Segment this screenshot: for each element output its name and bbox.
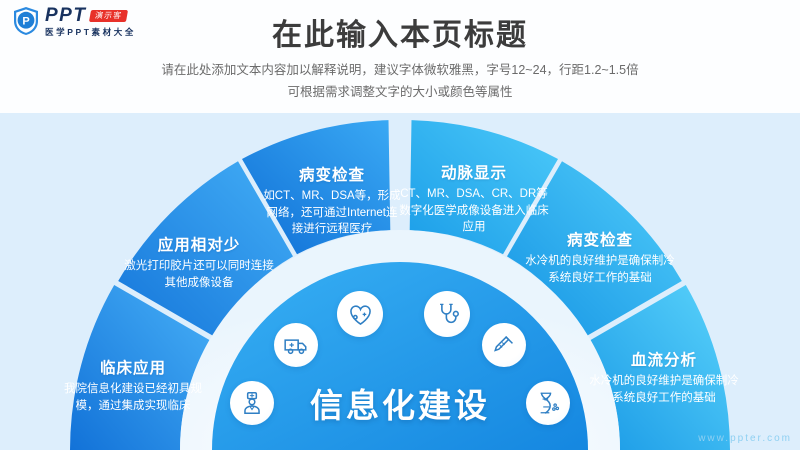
segment-3-body: 如CT、MR、DSA等，形成网络，还可通过Internet连接进行远程医疗 (262, 188, 402, 238)
page-title: 在此输入本页标题 (0, 10, 800, 54)
doctor-icon-bubble[interactable] (230, 381, 274, 425)
subtitle-line-2: 可根据需求调整文字的大小或颜色等属性 (0, 82, 800, 104)
segment-2-title: 应用相对少 (124, 233, 274, 255)
stethoscope-icon (434, 301, 461, 328)
segment-2-body: 激光打印胶片还可以同时连接其他成像设备 (124, 258, 274, 291)
segment-4-title: 动脉显示 (398, 161, 550, 183)
stethoscope-icon-bubble[interactable] (424, 291, 470, 337)
heart-pulse-icon (347, 301, 374, 328)
segment-5-body: 水冷机的良好维护是确保制冷系统良好工作的基础 (524, 253, 676, 286)
heart-pulse-icon-bubble[interactable] (337, 291, 383, 337)
dna-icon-bubble[interactable] (526, 381, 570, 425)
segment-5-text: 病变检查 水冷机的良好维护是确保制冷系统良好工作的基础 (524, 228, 676, 286)
dna-icon (535, 390, 561, 416)
watermark: www.ppter.com (698, 433, 792, 444)
syringe-icon-bubble[interactable] (482, 323, 526, 367)
segment-5-title: 病变检查 (524, 228, 676, 250)
subtitle-line-1: 请在此处添加文本内容加以解释说明，建议字体微软雅黑，字号12~24，行距1.2~… (0, 60, 800, 82)
segment-6-title: 血流分析 (588, 348, 740, 370)
hub-label: 信息化建设 (0, 379, 800, 427)
segment-2-text: 应用相对少 激光打印胶片还可以同时连接其他成像设备 (124, 233, 274, 291)
syringe-icon (491, 332, 517, 358)
ambulance-icon-bubble[interactable] (274, 323, 318, 367)
page-subtitle: 请在此处添加文本内容加以解释说明，建议字体微软雅黑，字号12~24，行距1.2~… (0, 60, 800, 104)
segment-4-text: 动脉显示 CT、MR、DSA、CR、DR等数字化医学成像设备进入临床应用 (398, 161, 550, 236)
ambulance-icon (283, 332, 309, 358)
segment-1-title: 临床应用 (58, 356, 208, 378)
segment-3-text: 病变检查 如CT、MR、DSA等，形成网络，还可通过Internet连接进行远程… (262, 163, 402, 238)
page-header: P PPT 演示客 医学PPT素材大全 在此输入本页标题 请在此处添加文本内容加… (0, 0, 800, 113)
doctor-icon (239, 390, 265, 416)
diagram-panel: 临床应用 我院信息化建设已经初具规模，通过集成实现临床 应用相对少 激光打印胶片… (0, 113, 800, 450)
segment-3-title: 病变检查 (262, 163, 402, 185)
